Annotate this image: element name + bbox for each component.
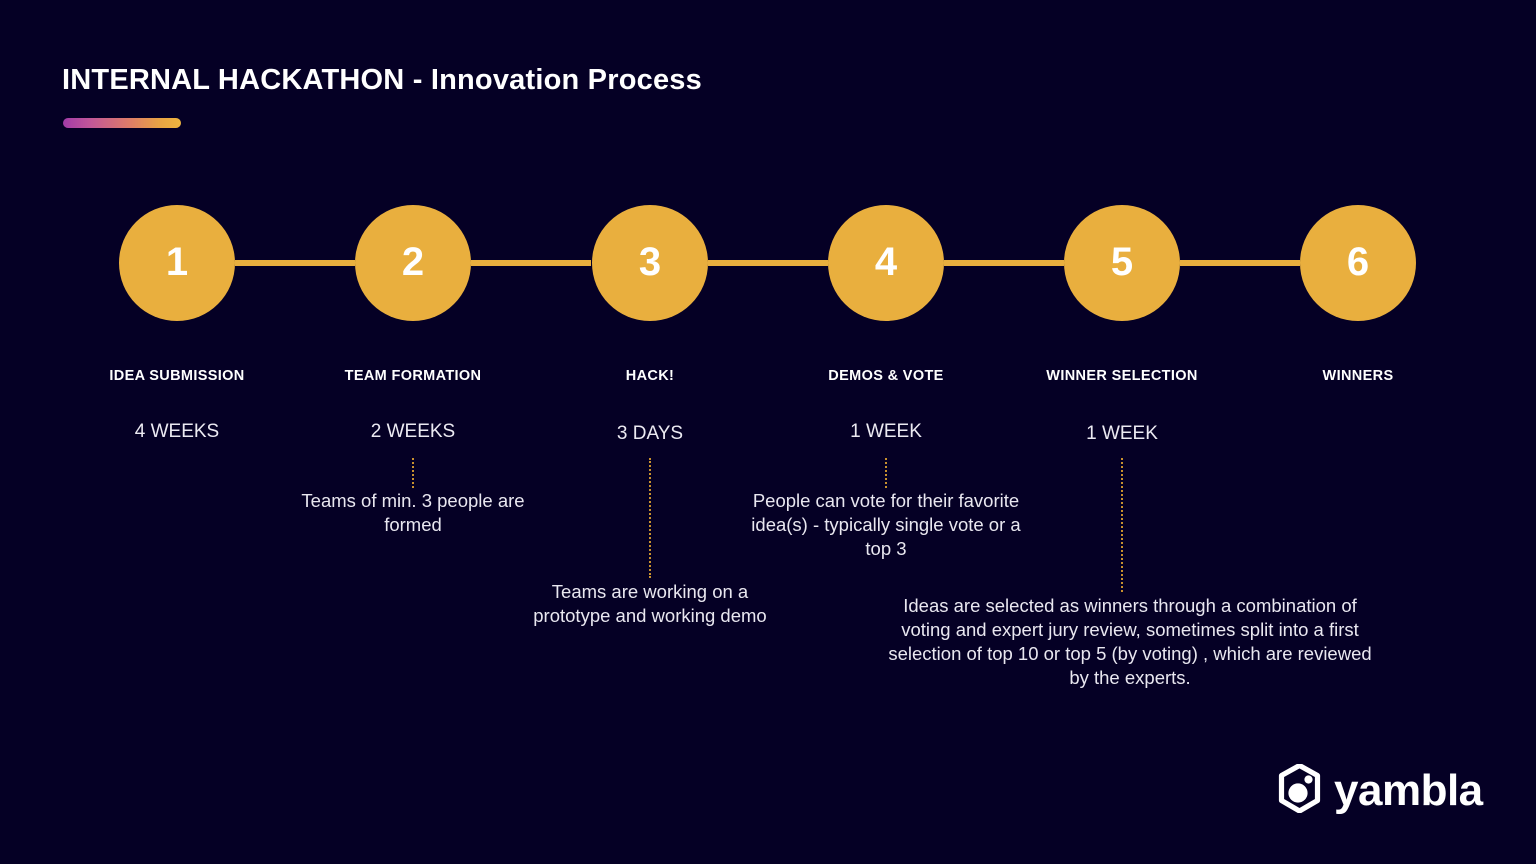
stage-duration-2: 2 WEEKS xyxy=(371,421,455,443)
stage-duration-1: 4 WEEKS xyxy=(135,421,219,443)
yambla-logo: yambla xyxy=(1277,764,1483,818)
stage-label-2: TEAM FORMATION xyxy=(345,368,482,384)
stage-label-1: IDEA SUBMISSION xyxy=(109,368,244,384)
timeline-node-number: 2 xyxy=(402,242,424,282)
stage-description-5: Ideas are selected as winners through a … xyxy=(880,594,1380,690)
stage-description-3: Teams are working on a prototype and wor… xyxy=(518,580,782,628)
timeline-node-number: 3 xyxy=(639,242,661,282)
stage-duration-4: 1 WEEK xyxy=(850,421,922,443)
dotted-connector-3 xyxy=(649,458,653,578)
stage-duration-3: 3 DAYS xyxy=(617,423,683,445)
stage-description-4: People can vote for their favorite idea(… xyxy=(743,489,1029,561)
timeline-node-5[interactable]: 5 xyxy=(1064,205,1180,321)
dotted-connector-2 xyxy=(412,458,416,488)
timeline-node-number: 6 xyxy=(1347,242,1369,282)
logo-wordmark: yambla xyxy=(1334,769,1483,813)
timeline-track-segment xyxy=(471,260,591,266)
stage-description-2: Teams of min. 3 people are formed xyxy=(282,489,544,537)
stage-label-4: DEMOS & VOTE xyxy=(828,368,943,384)
timeline-track-segment xyxy=(708,260,828,266)
timeline-track-segment xyxy=(1180,260,1300,266)
timeline-node-6[interactable]: 6 xyxy=(1300,205,1416,321)
timeline-track-segment xyxy=(235,260,355,266)
timeline-node-number: 1 xyxy=(166,242,188,282)
timeline-node-3[interactable]: 3 xyxy=(592,205,708,321)
timeline-track-segment xyxy=(944,260,1064,266)
timeline-node-number: 4 xyxy=(875,242,897,282)
stage-label-5: WINNER SELECTION xyxy=(1046,368,1197,384)
stage-duration-5: 1 WEEK xyxy=(1086,423,1158,445)
dotted-connector-4 xyxy=(885,458,889,488)
timeline-node-number: 5 xyxy=(1111,242,1133,282)
dotted-connector-5 xyxy=(1121,458,1125,592)
timeline-node-4[interactable]: 4 xyxy=(828,205,944,321)
timeline-node-1[interactable]: 1 xyxy=(119,205,235,321)
innovation-process-timeline: 1 2 3 4 5 6 IDEA SUBMISSION TEAM FORMATI… xyxy=(0,0,1536,864)
yambla-droplet-icon xyxy=(1277,764,1322,818)
stage-label-6: WINNERS xyxy=(1323,368,1394,384)
stage-label-3: HACK! xyxy=(626,368,674,384)
timeline-node-2[interactable]: 2 xyxy=(355,205,471,321)
